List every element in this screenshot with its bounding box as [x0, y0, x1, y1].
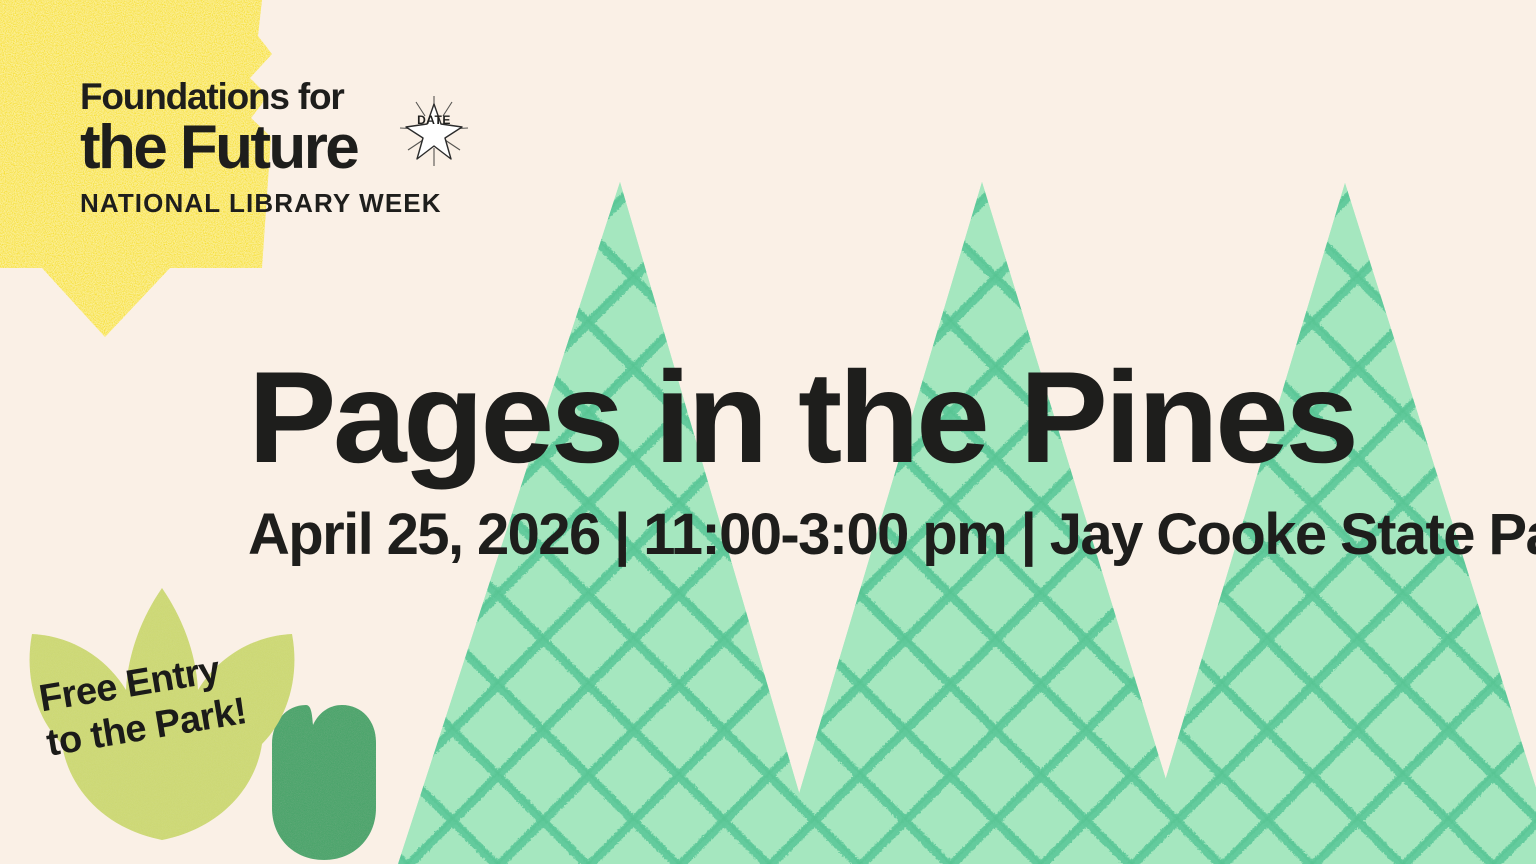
poster-canvas: Foundations for the Future NATIONAL LIBR… — [0, 0, 1536, 864]
green-blob — [272, 705, 376, 860]
event-title: Pages in the Pines — [248, 352, 1452, 482]
date-starburst-icon: DATE — [396, 94, 472, 168]
logo-line-the-future: the Future — [80, 117, 442, 179]
logo-line-foundations: Foundations for — [80, 78, 442, 115]
title-block: Pages in the Pines April 25, 2026 | 11:0… — [248, 352, 1428, 564]
logo-line-national-library-week: NATIONAL LIBRARY WEEK — [80, 190, 442, 216]
date-star-label: DATE — [417, 113, 451, 127]
event-details: April 25, 2026 | 11:00-3:00 pm | Jay Coo… — [248, 482, 1428, 564]
logo-text-block: Foundations for the Future NATIONAL LIBR… — [80, 78, 442, 216]
